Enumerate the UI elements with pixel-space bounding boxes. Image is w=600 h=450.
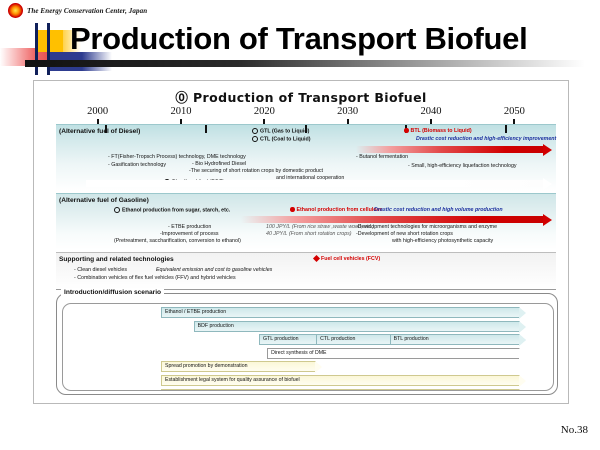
diesel-item-1: - Gasification technology xyxy=(108,162,166,169)
red-dot-icon xyxy=(404,128,409,133)
scenario-bar-arrow-cap xyxy=(519,389,526,391)
open-circle-icon xyxy=(252,136,258,142)
scenario-bars-container: Ethanol / ETBE productionEthanol product… xyxy=(62,303,554,391)
scenario-bar-label: BTL production xyxy=(394,336,429,342)
scenario-bar-label: BDF production xyxy=(198,323,234,329)
gasoline-red-arrow xyxy=(241,216,552,223)
marker-btl: BTL (Biomass to Liquid) xyxy=(404,128,472,135)
diesel-item-3: -The securing of short rotation crops by… xyxy=(189,168,323,175)
scenario-bar-arrow-cap xyxy=(519,334,526,346)
scenario-bar-label: Ethanol / ETBE production xyxy=(165,309,226,315)
decoration-vline-left xyxy=(35,23,38,75)
axis-tick-label: 2020 xyxy=(254,106,275,117)
decoration-vline-right xyxy=(47,23,50,75)
chart-frame: ⓪ Production of Transport Biofuel 200020… xyxy=(33,80,569,404)
timeline-axis: 200020102020203020402050 xyxy=(56,106,556,124)
scenario-bar-arrow-cap xyxy=(519,375,526,387)
scenario-bar-label: GTL production xyxy=(263,336,299,342)
diesel-item-2: - Bio Hydrofined Diesel xyxy=(192,161,246,168)
gasoline-item-6: -Development of new short rotation crops xyxy=(356,231,453,238)
support-item-0: - Clean diesel vehicles xyxy=(74,267,127,274)
chart-title: ⓪ Production of Transport Biofuel xyxy=(34,87,568,106)
scenario-bar[interactable] xyxy=(194,321,521,332)
decoration-underline-bar xyxy=(25,60,585,67)
support-item-1: Equivalent emission and cost to gasoline… xyxy=(156,267,272,274)
diesel-red-arrow xyxy=(356,146,552,153)
page-title: Production of Transport Biofuel xyxy=(70,21,527,57)
brand-header: The Energy Conservation Center, Japan xyxy=(8,3,147,18)
row-supporting-technologies: Supporting and related technologies Fuel… xyxy=(56,252,556,290)
introduction-diffusion-scenario: Introduction/diffusion scenario Ethanol … xyxy=(56,293,558,395)
gasoline-row-label: (Alternative fuel of Gasoline) xyxy=(59,197,149,204)
axis-tick-label: 2010 xyxy=(171,106,192,117)
diesel-item-6: - Small, high-efficiency liquefaction te… xyxy=(408,163,517,170)
slide-title-bar: Production of Transport Biofuel xyxy=(0,22,600,74)
diesel-item-0: - FT(Fisher-Tropsch Process) technology,… xyxy=(108,154,246,161)
diesel-white-arrow xyxy=(86,180,552,187)
support-row-label: Supporting and related technologies xyxy=(59,256,174,263)
gasoline-note: Drastic cost reduction and high volume p… xyxy=(374,207,503,214)
red-dot-icon xyxy=(290,207,295,212)
scenario-bar-arrow-cap xyxy=(519,348,526,360)
scenario-bar-label: Establishment legal system for quality a… xyxy=(165,377,300,383)
axis-tick-label: 2050 xyxy=(504,106,525,117)
support-item-2: - Combination vehicles of flex fuel vehi… xyxy=(74,275,236,282)
row-alternative-fuel-gasoline: (Alternative fuel of Gasoline) Ethanol p… xyxy=(56,193,556,250)
scenario-bar-arrow-cap xyxy=(519,321,526,333)
gasoline-item-2: (Pretreatment, saccharification, convers… xyxy=(114,238,241,245)
scenario-bar-label: Spread promotion by demonstration xyxy=(165,363,247,369)
page-number: No.38 xyxy=(561,424,588,436)
energy-sun-icon xyxy=(8,3,23,18)
red-diamond-icon xyxy=(313,255,320,262)
axis-tick-label: 2040 xyxy=(421,106,442,117)
gasoline-item-7: with high-efficiency photosynthetic capa… xyxy=(392,238,493,245)
marker-fcv: Fuel cell vehicles (FCV) xyxy=(314,256,380,263)
axis-tick-label: 2030 xyxy=(337,106,358,117)
diesel-item-5: - Butanol fermentation xyxy=(356,154,408,161)
gasoline-item-1: -Improvement of process xyxy=(160,231,219,238)
scenario-bar-arrow-cap xyxy=(315,361,322,373)
gasoline-item-0: - ETBE production xyxy=(168,224,211,231)
marker-gtl: GTL (Gas to Liquid) xyxy=(252,128,309,135)
marker-ethanol-sugar: Ethanol production from sugar, starch, e… xyxy=(114,207,230,214)
diesel-note: Drastic cost reduction and high-efficien… xyxy=(416,136,556,143)
open-circle-icon xyxy=(252,128,258,134)
scenario-bar-label: CTL production xyxy=(320,336,355,342)
open-circle-icon xyxy=(114,207,120,213)
marker-ctl: CTL (Coal to Liquid) xyxy=(252,136,311,143)
scenario-bar-label: Direct synthesis of DME xyxy=(271,350,326,356)
axis-tick-label: 2000 xyxy=(87,106,108,117)
row-alternative-fuel-diesel: (Alternative fuel of Diesel) GTL (Gas to… xyxy=(56,124,556,191)
gasoline-cost-1: 40 JPY/L (From short rotation crops) xyxy=(266,231,352,238)
scenario-bar-arrow-cap xyxy=(519,307,526,319)
brand-name: The Energy Conservation Center, Japan xyxy=(27,7,147,15)
diesel-row-label: (Alternative fuel of Diesel) xyxy=(59,128,140,135)
scenario-title: Introduction/diffusion scenario xyxy=(61,289,164,296)
gasoline-item-5: -Development technologies for microorgan… xyxy=(356,224,497,231)
marker-ethanol-cellulose: Ethanol production from cellulose xyxy=(290,207,382,214)
